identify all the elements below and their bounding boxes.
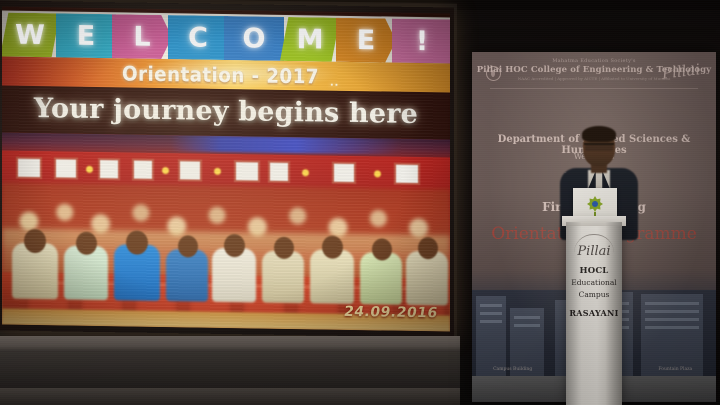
- banner-college-name: Pillai HOC College of Engineering & Tech…: [472, 65, 716, 75]
- speaker-hair: [582, 126, 616, 142]
- photo-person-head: [274, 237, 294, 259]
- welcome-letter-char: O: [243, 23, 266, 54]
- slide-subtitle-dots: ..: [330, 74, 339, 89]
- welcome-letter-char: C: [188, 22, 208, 53]
- welcome-letter: L: [114, 12, 170, 61]
- banner-photo-label: Campus Building: [472, 367, 553, 372]
- podium-top: [562, 216, 626, 226]
- glasses-icon: [584, 143, 614, 152]
- banner-accreditation: NAAC Accredited | Approved by AICTE | Af…: [472, 76, 716, 81]
- podium-line-4: RASAYANI: [566, 308, 622, 318]
- podium-line-2: Educational: [566, 278, 622, 287]
- podium-line-3: Campus: [566, 290, 622, 299]
- welcome-letter: E: [58, 11, 114, 60]
- welcome-letter-char: E: [77, 20, 95, 51]
- slide-subtitle: Orientation - 2017: [122, 61, 361, 89]
- podium: Pillai HOCL Educational Campus RASAYANI: [566, 222, 622, 405]
- photo-person-head: [178, 235, 198, 257]
- welcome-letter: E: [338, 16, 394, 65]
- welcome-letter: W: [2, 10, 58, 59]
- podium-line-1: HOCL: [566, 266, 622, 276]
- banner-photo: Fountain Plaza: [635, 290, 716, 402]
- projection-screen: W E L C O M E ! Orientation - 2017 .. Yo…: [0, 0, 454, 337]
- photo-person-head: [322, 236, 343, 259]
- welcome-letter-char: W: [15, 19, 45, 50]
- banner-photo-ground: [635, 376, 716, 402]
- presentation-slide: W E L C O M E ! Orientation - 2017 .. Yo…: [2, 6, 450, 331]
- photo-person-head: [24, 229, 46, 253]
- welcome-letter-char: M: [297, 24, 324, 55]
- welcome-letter-char: E: [357, 25, 375, 56]
- banner-header: Mahatma Education Society's Pillai HOC C…: [472, 58, 716, 81]
- welcome-letter-char: L: [133, 21, 150, 52]
- welcome-letter-char: !: [416, 25, 428, 56]
- flower-logo-icon: [587, 196, 603, 212]
- slide-audience-photo: 24.09.2016: [2, 132, 450, 331]
- welcome-letter: O: [226, 14, 282, 63]
- welcome-letter: !: [394, 17, 450, 66]
- banner-divider: [490, 88, 698, 89]
- auditorium-scene: W E L C O M E ! Orientation - 2017 .. Yo…: [0, 0, 720, 405]
- stage-wall-base: [0, 388, 460, 405]
- banner-photo: Campus Building: [472, 290, 553, 402]
- banner-society-name: Mahatma Education Society's: [472, 58, 716, 64]
- photo-date-stamp: 24.09.2016: [343, 304, 439, 321]
- banner-photo-label: Fountain Plaza: [635, 367, 716, 372]
- welcome-letter: M: [282, 15, 338, 64]
- photo-person-head: [76, 232, 97, 255]
- photo-person-head: [126, 230, 148, 254]
- podium-signature: Pillai: [574, 244, 614, 259]
- banner-photo-ground: [472, 376, 553, 402]
- slide-tagline: Your journey begins here: [2, 92, 450, 130]
- photo-person-head: [418, 237, 438, 259]
- welcome-letter: C: [170, 13, 226, 62]
- screen-surface: W E L C O M E ! Orientation - 2017 .. Yo…: [0, 0, 454, 337]
- photo-person-head: [372, 238, 392, 260]
- photo-person-head: [224, 234, 245, 257]
